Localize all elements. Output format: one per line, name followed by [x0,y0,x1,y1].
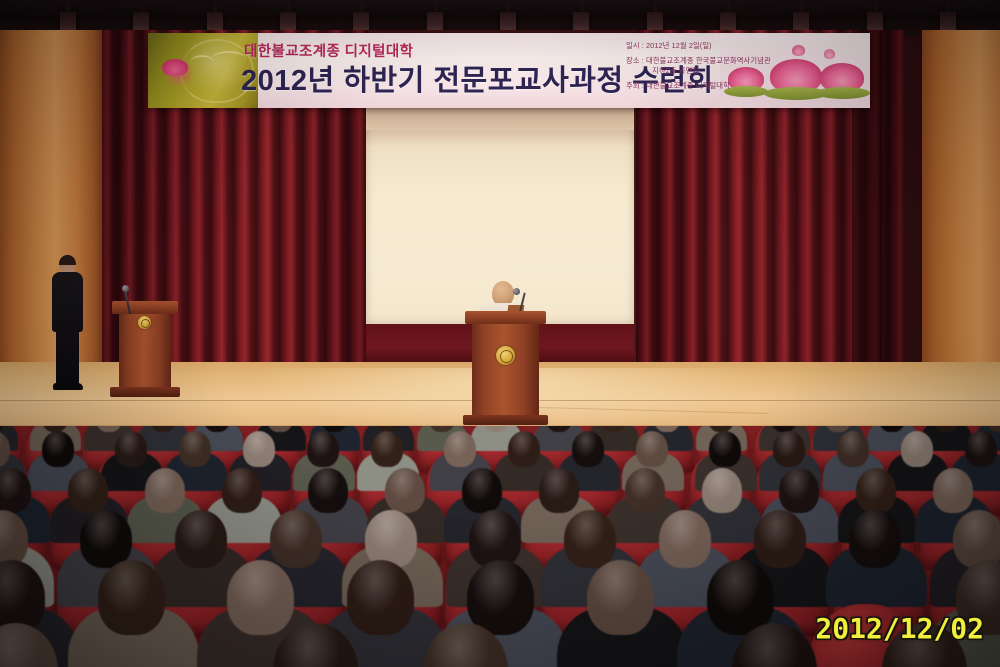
person-legs [56,329,79,385]
banner-detail-place-2: 지하2층 공연장 [626,66,798,77]
audience-member-head [222,468,262,513]
banner-detail-date: 일시 : 2012년 12월 2일(일) [626,41,798,52]
audience-member-head [115,431,147,467]
audience-member-head [98,560,165,635]
person-torso [52,272,83,332]
audience-member-head [227,560,294,635]
lotus-pad-icon [816,87,870,99]
audience-member-head [779,468,819,513]
audience-member-head [462,468,502,513]
microphone-head-icon [513,288,520,295]
audience-member-head [347,560,414,635]
audience-member-head [68,468,108,513]
audience-member-head [365,510,417,568]
audience-member-head [636,431,668,467]
podium-top [465,311,546,324]
audience-member-head [901,431,933,467]
audience-member-head [444,431,476,467]
audience-member-head [564,510,616,568]
audience-member-head [965,431,997,467]
staff-in-dark-suit [50,255,86,391]
event-banner: 대한불교조계종 디지털대학 2012년 하반기 전문포교사과정 수련회 일시 :… [148,33,870,108]
audience-member-head [539,468,579,513]
audience-member-head [625,468,665,513]
screen-top-band [366,108,634,130]
banner-detail-place: 장소 : 대한불교조계종 한국불교문화역사기념관 [626,56,798,67]
audience-member-head [754,510,806,568]
audience-member-head [709,431,741,467]
banner-details: 일시 : 2012년 12월 2일(일) 장소 : 대한불교조계종 한국불교문화… [626,41,798,91]
audience-member-head [849,510,901,568]
podium-base [463,415,548,425]
audience-member-head [572,431,604,467]
audience-member-head [0,468,31,513]
audience-member-head [467,560,534,635]
auditorium-photo: B 51B 52B 53B 54B 55B 56B 57B 63B 64B 65… [0,0,1000,667]
audience-member-head [385,468,425,513]
buddha-brow-icon [190,55,214,71]
left-podium [119,310,171,388]
lotus-icon [162,59,188,76]
audience-member-head [508,431,540,467]
audience-member-head [469,510,521,568]
audience-member-head [856,468,896,513]
audience-member-head [307,431,339,467]
audience-member-head [270,510,322,568]
person-shoes [53,383,83,390]
audience-member-head [243,431,275,467]
microphone-head-icon [122,285,129,292]
audience-member-head [837,431,869,467]
audience-member-head [175,510,227,568]
audience-member-head [308,468,348,513]
buddhist-order-emblem-icon [496,346,515,365]
audience-member-head [659,510,711,568]
camera-date-stamp: 2012/12/02 [815,612,984,645]
audience-member-head [42,431,74,467]
audience-member-head [145,468,185,513]
audience-member-head [371,431,403,467]
banner-detail-host: 주최 : 대한불교조계종 디지털대학 [626,81,798,92]
audience-member-head [80,510,132,568]
podium-base [110,387,180,397]
audience-member-head [702,468,742,513]
buddhist-order-emblem-icon [138,316,151,329]
audience-member-head [933,468,973,513]
lotus-bud-icon [824,49,835,59]
audience-member-head [773,431,805,467]
audience-member-head [179,431,211,467]
audience-member-head [587,560,654,635]
podium-top [112,301,178,314]
center-podium [472,320,539,416]
